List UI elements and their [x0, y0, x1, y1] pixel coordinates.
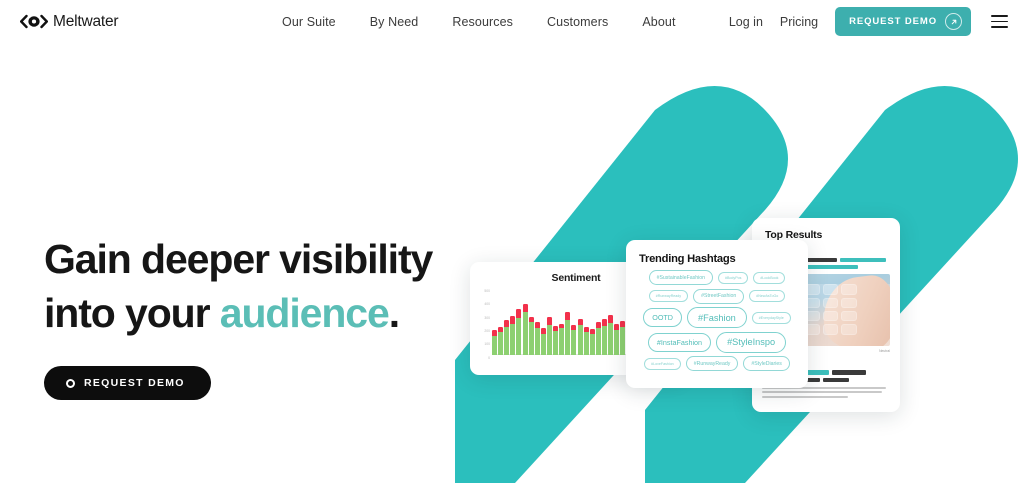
hashtags-card-title: Trending Hashtags — [639, 253, 808, 265]
hashtag-pill[interactable]: #LoveFashion — [644, 358, 681, 370]
sentiment-bar — [553, 293, 558, 355]
hero-copy: Gain deeper visibility into your audienc… — [44, 232, 464, 340]
sentiment-bar-positive — [584, 332, 589, 355]
sentiment-bar-positive — [565, 320, 570, 355]
redacted-bar — [840, 258, 886, 262]
sentiment-y-tick: 0 — [488, 357, 490, 360]
sentiment-bar — [541, 293, 546, 355]
hashtag-row: #LoveFashion#RunwayReady#StyleDiaries — [633, 356, 801, 371]
nav-item-by-need[interactable]: By Need — [370, 15, 419, 29]
nav-item-customers[interactable]: Customers — [547, 15, 608, 29]
sentiment-bar — [596, 293, 601, 355]
nav-item-about[interactable]: About — [642, 15, 675, 29]
sentiment-bar — [547, 293, 552, 355]
sentiment-y-tick: 300 — [484, 317, 490, 320]
sentiment-y-tick: 400 — [484, 303, 490, 306]
header-utility-nav: Log in Pricing REQUEST DEMO — [729, 0, 1008, 43]
redacted-bar — [807, 258, 837, 262]
hero-title-line2-prefix: into your — [44, 290, 220, 336]
sentiment-bar — [516, 293, 521, 355]
sentiment-bar-positive — [523, 312, 528, 355]
sentiment-bar-positive — [504, 327, 509, 355]
meltwater-logo[interactable]: Meltwater — [20, 13, 118, 31]
hero-title-line1: Gain deeper visibility — [44, 236, 432, 282]
sentiment-bar — [535, 293, 540, 355]
hashtag-row: #InstaFashion#StyleInspo — [633, 332, 801, 353]
sentiment-bar-negative — [608, 315, 613, 322]
post-2-body-lines — [762, 387, 890, 398]
sentiment-bar-positive — [510, 324, 515, 355]
hashtag-pill[interactable]: #StyleDiaries — [743, 356, 790, 371]
sentiment-bar-positive — [535, 328, 540, 355]
sentiment-bar — [602, 293, 607, 355]
hashtag-row: #RunwayReady#StreetFashion#NewAsToGo — [633, 289, 801, 304]
sentiment-bar — [620, 293, 625, 355]
sentiment-bar — [504, 293, 509, 355]
header-request-demo-label: REQUEST DEMO — [849, 16, 937, 27]
hero-request-demo-label: REQUEST DEMO — [84, 377, 185, 389]
sentiment-bar-positive — [498, 332, 503, 355]
sentiment-bar — [590, 293, 595, 355]
nav-item-our-suite[interactable]: Our Suite — [282, 15, 336, 29]
hashtag-pill[interactable]: #BodyPos — [718, 272, 748, 284]
redacted-bar — [832, 370, 866, 374]
nav-item-resources[interactable]: Resources — [452, 15, 513, 29]
sentiment-bar-positive — [578, 325, 583, 355]
header-request-demo-button[interactable]: REQUEST DEMO — [835, 7, 971, 36]
image-caption-right: Neutral — [879, 349, 890, 353]
sentiment-bar — [529, 293, 534, 355]
sentiment-bar-negative — [523, 304, 528, 311]
hashtag-pill[interactable]: #StyleInspo — [716, 332, 786, 353]
sentiment-y-axis: 5004003002001000 — [474, 290, 490, 360]
sentiment-bar — [608, 293, 613, 355]
sentiment-bar-negative — [547, 317, 552, 324]
pricing-link[interactable]: Pricing — [780, 15, 818, 29]
sentiment-bar-positive — [596, 328, 601, 355]
hashtag-pill[interactable]: #EverydayStyle — [752, 312, 791, 324]
record-dot-icon — [66, 379, 75, 388]
logo-wordmark: Meltwater — [53, 13, 118, 31]
site-header: Meltwater Our Suite By Need Resources Cu… — [0, 0, 1024, 43]
sentiment-bar-positive — [516, 318, 521, 355]
sentiment-y-tick: 200 — [484, 330, 490, 333]
login-link[interactable]: Log in — [729, 15, 763, 29]
sentiment-bar — [559, 293, 564, 355]
sentiment-bar — [565, 293, 570, 355]
hashtag-pill[interactable]: #SustainableFashion — [649, 270, 713, 285]
sentiment-bar-positive — [547, 325, 552, 355]
sentiment-bar-positive — [553, 331, 558, 355]
sentiment-bar — [523, 293, 528, 355]
sentiment-bar-positive — [529, 322, 534, 355]
primary-navigation: Our Suite By Need Resources Customers Ab… — [282, 0, 676, 43]
sentiment-bar-positive — [492, 336, 497, 355]
sentiment-bar-negative — [516, 309, 521, 318]
sentiment-bar — [571, 293, 576, 355]
sentiment-bar-positive — [620, 327, 625, 355]
sentiment-bar — [492, 293, 497, 355]
text-line — [762, 396, 848, 398]
hashtag-pill-rows: #SustainableFashion#BodyPos#LookBook#Run… — [626, 270, 808, 371]
redacted-bar — [823, 378, 849, 382]
sentiment-bar — [510, 293, 515, 355]
sentiment-y-tick: 100 — [484, 343, 490, 346]
page-title: Gain deeper visibility into your audienc… — [44, 232, 464, 340]
eye-logo-icon — [20, 14, 48, 30]
hashtag-row: #SustainableFashion#BodyPos#LookBook — [633, 270, 801, 285]
sentiment-bar-positive — [541, 334, 546, 355]
page-root: Meltwater Our Suite By Need Resources Cu… — [0, 0, 1024, 483]
sentiment-bar — [614, 293, 619, 355]
sentiment-bar-positive — [571, 330, 576, 355]
hashtag-pill[interactable]: #LookBook — [753, 272, 785, 284]
hashtag-pill[interactable]: #RunwayReady — [686, 356, 739, 371]
hashtag-pill[interactable]: #StreetFashion — [693, 289, 744, 304]
sentiment-y-tick: 500 — [484, 290, 490, 293]
hashtag-pill[interactable]: OOTD — [643, 308, 682, 327]
hashtag-pill[interactable]: #NewAsToGo — [749, 290, 785, 302]
sentiment-bar-negative — [510, 316, 515, 324]
sentiment-bar-positive — [590, 334, 595, 355]
sentiment-bar — [578, 293, 583, 355]
hashtag-pill[interactable]: #InstaFashion — [648, 333, 711, 352]
arrow-up-right-circle-icon — [945, 13, 962, 30]
sentiment-bar — [498, 293, 503, 355]
sentiment-bar — [584, 293, 589, 355]
hero-title-period: . — [389, 290, 399, 336]
sentiment-bar-positive — [614, 330, 619, 355]
text-line — [762, 391, 882, 393]
sentiment-bar-positive — [559, 328, 564, 355]
hero-request-demo-button[interactable]: REQUEST DEMO — [44, 366, 211, 400]
trending-hashtags-card[interactable]: Trending Hashtags #SustainableFashion#Bo… — [626, 240, 808, 388]
sentiment-bar-negative — [565, 312, 570, 320]
sentiment-bar-positive — [602, 326, 607, 355]
hashtag-pill[interactable]: #Fashion — [687, 307, 747, 328]
sentiment-bar-negative — [504, 320, 509, 327]
sentiment-bar-negative — [602, 319, 607, 326]
hamburger-menu-icon[interactable] — [991, 15, 1008, 28]
hashtag-pill[interactable]: #RunwayReady — [649, 290, 688, 302]
hero-title-accent: audience — [220, 290, 389, 336]
hashtag-row: OOTD#Fashion#EverydayStyle — [633, 307, 801, 328]
sentiment-bar-positive — [608, 323, 613, 355]
